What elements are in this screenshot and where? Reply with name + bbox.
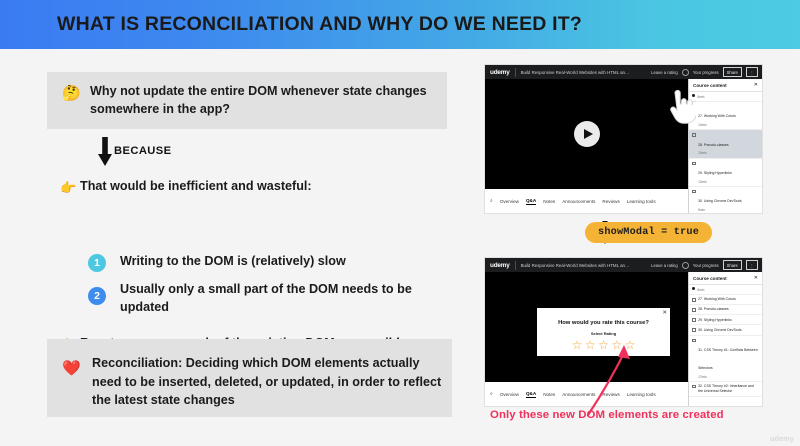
red-annotation-arrow-icon bbox=[580, 339, 650, 419]
tab-overview-bottom[interactable]: Overview bbox=[500, 392, 519, 397]
search-icon-bottom[interactable]: ⌕ bbox=[490, 391, 493, 397]
lesson-meta-29-top: 12min bbox=[698, 180, 732, 184]
left-content-column: 🤔 Why not update the entire DOM whenever… bbox=[0, 49, 470, 446]
lesson-checkbox-icon[interactable] bbox=[692, 318, 696, 322]
lesson-row-30-top[interactable]: 30. Using Chrome DevTools 8min bbox=[689, 187, 762, 213]
lesson-row-partial-bottom[interactable]: 6min bbox=[689, 285, 762, 295]
progress-ring-icon-top bbox=[682, 69, 689, 76]
list-item-2-bold: small part of the DOM bbox=[208, 282, 338, 296]
question-text: Why not update the entire DOM whenever s… bbox=[90, 82, 430, 119]
slide-header: WHAT IS RECONCILIATION AND WHY DO WE NEE… bbox=[0, 0, 800, 49]
udemy-topbar-actions-bottom: Leave a rating Your progress Share ⋮ bbox=[651, 260, 762, 270]
lesson-block-30-top: 30. Using Chrome DevTools 8min bbox=[698, 189, 742, 212]
progress-ring-icon-bottom bbox=[682, 262, 689, 269]
lesson-row-28-top[interactable]: 28. Pseudo-classes 10min bbox=[689, 130, 762, 158]
title-part-pre: WHAT IS bbox=[57, 13, 145, 35]
lesson-meta-31-bottom: 17min bbox=[698, 375, 759, 379]
lesson-row-29-bottom[interactable]: 29. Styling Hyperlinks bbox=[689, 315, 762, 325]
udemy-topbar-bottom: udemy Build Responsive Real-World Websit… bbox=[485, 258, 762, 272]
modal-heading: How would you rate this course? bbox=[537, 320, 670, 326]
your-progress-button-bottom[interactable]: Your progress bbox=[693, 263, 719, 268]
lesson-title-28-top: 28. Pseudo-classes bbox=[698, 143, 729, 147]
topbar-divider-bottom bbox=[515, 261, 516, 270]
lesson-checkbox-icon[interactable] bbox=[692, 339, 696, 343]
share-button-top[interactable]: Share bbox=[723, 67, 742, 77]
page-title: WHAT IS RECONCILIATION AND WHY DO WE NEE… bbox=[0, 13, 582, 36]
udemy-tabbar-top: ⌕ Overview Q&A Notes Announcements Revie… bbox=[485, 189, 688, 213]
tab-learning-tools-top[interactable]: Learning tools bbox=[627, 199, 656, 204]
lesson-row-30-bottom[interactable]: 30. Using Chrome DevTools bbox=[689, 325, 762, 335]
search-icon-top[interactable]: ⌕ bbox=[490, 198, 493, 204]
pointing-finger-icon-1: 👉 bbox=[60, 180, 76, 196]
lesson-meta-30-top: 8min bbox=[698, 208, 742, 212]
lesson-row-28-bottom[interactable]: 28. Pseudo-classes bbox=[689, 305, 762, 315]
tab-overview-top[interactable]: Overview bbox=[500, 199, 519, 204]
lesson-meta-0-top: 6min bbox=[698, 95, 705, 99]
tab-reviews-top[interactable]: Reviews bbox=[602, 199, 619, 204]
lesson-title-27-top: 27. Working With Colors bbox=[698, 114, 736, 118]
lesson-block-28-top: 28. Pseudo-classes 10min bbox=[698, 133, 729, 156]
lesson-row-27-bottom[interactable]: 27. Working With Colors bbox=[689, 295, 762, 305]
lesson-row-32-bottom[interactable]: 32. CSS Theory #2: Inheritance and the U… bbox=[689, 382, 762, 397]
lesson-block-29-top: 29. Styling Hyperlinks 12min bbox=[698, 161, 732, 184]
because-label: BECAUSE bbox=[114, 145, 172, 157]
tab-announcements-top[interactable]: Announcements bbox=[562, 199, 595, 204]
lesson-title-30-top: 30. Using Chrome DevTools bbox=[698, 199, 742, 203]
lesson-checkbox-icon[interactable] bbox=[692, 308, 696, 312]
right-screenshot-column: udemy Build Responsive Real-World Websit… bbox=[470, 49, 800, 446]
slide-root: WHAT IS RECONCILIATION AND WHY DO WE NEE… bbox=[0, 0, 800, 446]
more-options-button-top[interactable]: ⋮ bbox=[746, 67, 758, 77]
play-triangle bbox=[584, 129, 593, 139]
lesson-row-partial-top[interactable]: 6min bbox=[689, 92, 762, 102]
red-annotation-caption: Only these new DOM elements are created bbox=[490, 409, 724, 421]
lesson-meta-28-top: 10min bbox=[698, 151, 729, 155]
lesson-title-29-top: 29. Styling Hyperlinks bbox=[698, 171, 732, 175]
lesson-row-29-top[interactable]: 29. Styling Hyperlinks 12min bbox=[689, 159, 762, 187]
lesson-dot-icon bbox=[692, 94, 695, 97]
show-modal-state-badge: showModal = true bbox=[585, 222, 712, 243]
lesson-checkbox-icon[interactable] bbox=[692, 162, 696, 166]
lesson-checkbox-icon[interactable] bbox=[692, 328, 696, 332]
udemy-watermark: udemy bbox=[770, 434, 794, 443]
more-options-button-bottom[interactable]: ⋮ bbox=[746, 260, 758, 270]
tab-qa-bottom[interactable]: Q&A bbox=[526, 391, 536, 398]
title-part-bold: RECONCILIATION bbox=[145, 13, 314, 35]
thinking-face-icon: 🤔 bbox=[62, 86, 81, 101]
list-item-2-text: Usually only a small part of the DOM nee… bbox=[120, 281, 420, 317]
tab-notes-bottom[interactable]: Notes bbox=[543, 392, 555, 397]
lesson-checkbox-icon[interactable] bbox=[692, 298, 696, 302]
close-icon-sidebar-bottom[interactable]: ✕ bbox=[754, 275, 758, 281]
udemy-logo-bottom: udemy bbox=[485, 262, 510, 269]
reconciliation-term: Reconciliation: bbox=[92, 356, 182, 370]
topbar-divider-top bbox=[515, 68, 516, 77]
list-number-badge-2: 2 bbox=[88, 287, 106, 305]
down-arrow-because-icon bbox=[97, 137, 113, 167]
list-item-1-bold: slow bbox=[318, 254, 346, 268]
list-item-2-pre: Usually only a bbox=[120, 282, 208, 296]
lesson-title-27-bottom: 27. Working With Colors bbox=[698, 297, 736, 302]
list-item-1-text: Writing to the DOM is (relatively) slow bbox=[120, 253, 420, 271]
course-content-sidebar-top: Course content ✕ 6min 27. Working With C… bbox=[688, 79, 762, 213]
lesson-checkbox-icon[interactable] bbox=[692, 105, 696, 109]
course-content-sidebar-bottom: Course content ✕ 6min 27. Working With C… bbox=[688, 272, 762, 406]
lesson-checkbox-icon[interactable] bbox=[692, 133, 696, 137]
modal-subheading: Select Rating bbox=[537, 331, 670, 336]
list-number-badge-1: 1 bbox=[88, 254, 106, 272]
lesson-dot-icon bbox=[692, 287, 695, 290]
sidebar-header-bottom: Course content ✕ bbox=[689, 272, 762, 285]
udemy-course-title-top: Build Responsive Real-World Websites wit… bbox=[521, 70, 630, 75]
tab-qa-top[interactable]: Q&A bbox=[526, 198, 536, 205]
reconciliation-definition: Reconciliation: Deciding which DOM eleme… bbox=[92, 354, 442, 410]
lesson-row-27-top[interactable]: 27. Working With Colors 14min bbox=[689, 102, 762, 130]
lesson-block-31-bottom: 31. CSS Theory #1: Conflicts Between Sel… bbox=[698, 338, 759, 379]
udemy-screenshot-before: udemy Build Responsive Real-World Websit… bbox=[485, 65, 762, 213]
leave-rating-link-bottom[interactable]: Leave a rating bbox=[651, 263, 678, 268]
lesson-checkbox-icon[interactable] bbox=[692, 190, 696, 194]
modal-close-icon[interactable]: ✕ bbox=[662, 310, 667, 316]
lesson-title-30-bottom: 30. Using Chrome DevTools bbox=[698, 328, 742, 333]
lesson-title-29-bottom: 29. Styling Hyperlinks bbox=[698, 318, 732, 323]
udemy-logo-top: udemy bbox=[485, 69, 510, 76]
udemy-course-title-bottom: Build Responsive Real-World Websites wit… bbox=[521, 263, 630, 268]
your-progress-button-top[interactable]: Your progress bbox=[693, 70, 719, 75]
tab-notes-top[interactable]: Notes bbox=[543, 199, 555, 204]
lesson-row-31-bottom[interactable]: 31. CSS Theory #1: Conflicts Between Sel… bbox=[689, 336, 762, 382]
lesson-title-31-bottom: 31. CSS Theory #1: Conflicts Between Sel… bbox=[698, 348, 758, 370]
lesson-block-27-top: 27. Working With Colors 14min bbox=[698, 104, 736, 127]
share-button-bottom[interactable]: Share bbox=[723, 260, 742, 270]
inefficient-text: That would be inefficient and wasteful: bbox=[80, 179, 312, 193]
list-item-1-pre: Writing to the DOM is (relatively) bbox=[120, 254, 318, 268]
video-stage-top[interactable] bbox=[485, 79, 688, 189]
udemy-topbar-top: udemy Build Responsive Real-World Websit… bbox=[485, 65, 762, 79]
title-part-post: AND WHY DO WE NEED IT? bbox=[314, 13, 582, 35]
red-heart-icon: ❤️ bbox=[62, 359, 81, 377]
lesson-meta-27-top: 14min bbox=[698, 123, 736, 127]
play-button-icon[interactable] bbox=[574, 121, 600, 147]
sidebar-title-bottom: Course content bbox=[693, 276, 727, 281]
udemy-topbar-actions-top: Leave a rating Your progress Share ⋮ bbox=[651, 67, 762, 77]
lesson-title-32-bottom: 32. CSS Theory #2: Inheritance and the U… bbox=[698, 384, 759, 393]
sidebar-header-top: Course content ✕ bbox=[689, 79, 762, 92]
lesson-meta-0-bottom: 6min bbox=[698, 288, 705, 292]
sidebar-title-top: Course content bbox=[693, 83, 727, 88]
leave-rating-link-top[interactable]: Leave a rating bbox=[651, 70, 678, 75]
lesson-title-28-bottom: 28. Pseudo-classes bbox=[698, 307, 729, 312]
close-icon-sidebar-top[interactable]: ✕ bbox=[754, 82, 758, 88]
lesson-checkbox-icon[interactable] bbox=[692, 385, 696, 389]
